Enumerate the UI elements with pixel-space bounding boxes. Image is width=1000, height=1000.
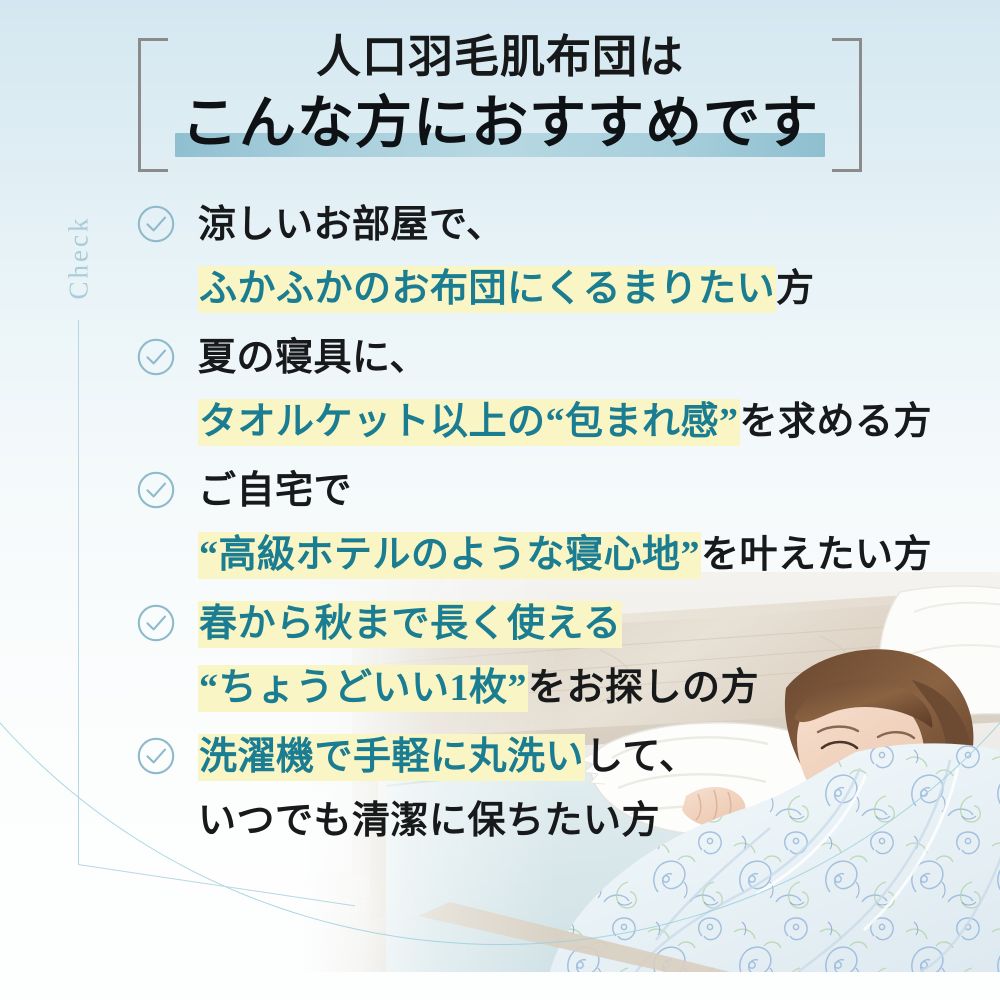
check-circle-icon — [136, 470, 176, 510]
checklist-item: ご自宅で“高級ホテルのような寝心地”を叶えたい方 — [130, 462, 980, 595]
plain-text: 涼しいお部屋で、 — [198, 204, 504, 246]
page-title: 人口羽毛肌布団は こんな方におすすめです — [0, 28, 1000, 160]
checklist-item-line: 洗濯機で手軽に丸洗いして、 — [198, 728, 980, 786]
plain-text: を求める方 — [740, 401, 933, 443]
plain-text: ご自宅で — [198, 470, 352, 512]
check-circle-icon — [136, 204, 176, 244]
checklist-item-line: 夏の寝具に、 — [198, 329, 980, 387]
checklist-item: 涼しいお部屋で、ふかふかのお布団にくるまりたい方 — [130, 196, 980, 329]
plain-text: 方 — [776, 268, 815, 310]
checklist-item: 春から秋まで長く使える“ちょうどいい1枚”をお探しの方 — [130, 595, 980, 728]
title-line-2: こんな方におすすめです — [175, 88, 825, 160]
title-line-2-text: こんな方におすすめです — [181, 92, 819, 155]
checklist-item-line: “高級ホテルのような寝心地”を叶えたい方 — [198, 526, 980, 584]
check-circle-icon — [136, 736, 176, 776]
checklist-item: 夏の寝具に、タオルケット以上の“包まれ感”を求める方 — [130, 329, 980, 462]
highlighted-text: “ちょうどいい1枚” — [198, 665, 528, 712]
check-side-label-text: Check — [64, 216, 95, 300]
checklist-item-line: “ちょうどいい1枚”をお探しの方 — [198, 659, 980, 717]
checklist-item-line: 涼しいお部屋で、 — [198, 196, 980, 254]
checklist-item-line: いつでも清潔に保ちたい方 — [198, 792, 980, 850]
highlighted-text: ふかふかのお布団にくるまりたい — [198, 266, 776, 313]
highlighted-text: 春から秋まで長く使える — [198, 601, 622, 648]
highlighted-text: “高級ホテルのような寝心地” — [198, 532, 701, 579]
check-circle-icon — [136, 337, 176, 377]
highlighted-text: 洗濯機で手軽に丸洗い — [198, 734, 585, 781]
checklist-item-line: タオルケット以上の“包まれ感”を求める方 — [198, 393, 980, 451]
highlighted-text: タオルケット以上の“包まれ感” — [198, 399, 740, 446]
check-vertical-rule — [78, 320, 79, 865]
check-side-label: Check — [62, 200, 96, 330]
plain-text: をお探しの方 — [528, 667, 759, 709]
check-circle-icon — [136, 603, 176, 643]
checklist-item-line: ご自宅で — [198, 462, 980, 520]
advertisement-banner: 人口羽毛肌布団は こんな方におすすめです Check 涼しいお部屋で、ふかふかの… — [0, 0, 1000, 1000]
plain-text: して、 — [585, 736, 697, 778]
plain-text: を叶えたい方 — [701, 534, 932, 576]
checklist-item-line: 春から秋まで長く使える — [198, 595, 980, 653]
title-line-1: 人口羽毛肌布団は — [0, 28, 1000, 86]
checklist-item: 洗濯機で手軽に丸洗いして、いつでも清潔に保ちたい方 — [130, 728, 980, 861]
plain-text: いつでも清潔に保ちたい方 — [198, 800, 660, 842]
checklist: 涼しいお部屋で、ふかふかのお布団にくるまりたい方 夏の寝具に、タオルケット以上の… — [130, 196, 980, 861]
checklist-item-line: ふかふかのお布団にくるまりたい方 — [198, 260, 980, 318]
plain-text: 夏の寝具に、 — [198, 337, 428, 379]
